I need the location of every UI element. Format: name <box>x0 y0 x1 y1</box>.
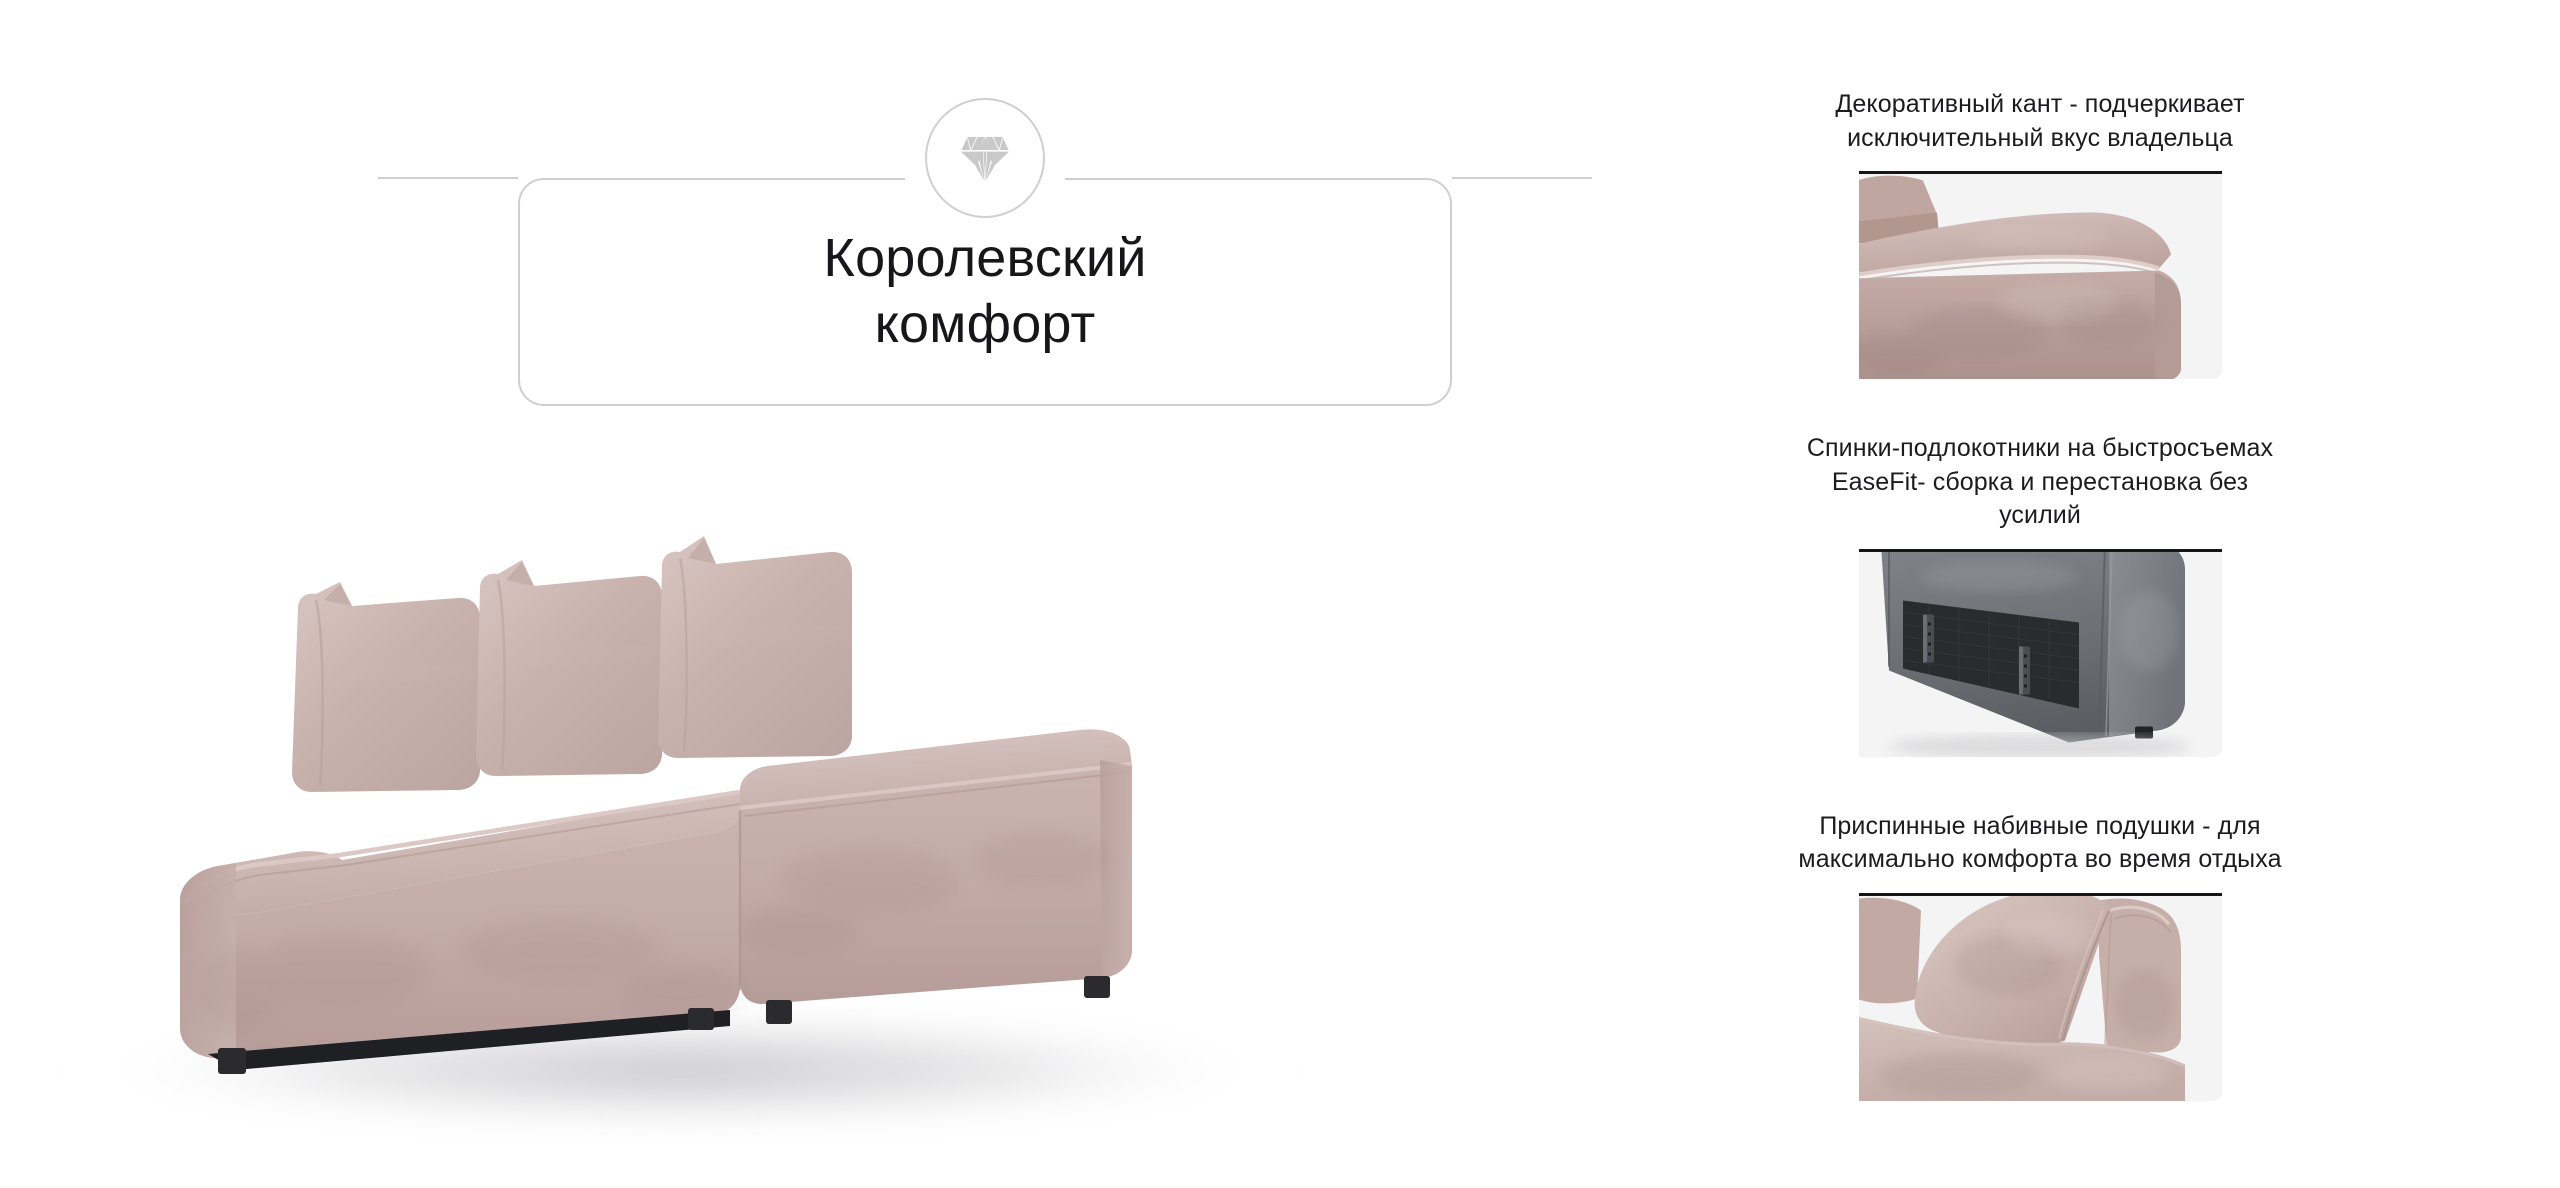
feature-thumbnail-piping[interactable] <box>1859 171 2222 379</box>
divider-line-left <box>378 177 518 179</box>
sofa-foot <box>1084 976 1110 998</box>
sofa-module-left <box>180 792 740 1074</box>
feature-item-cushions: Приспинные набивные подушки - для максим… <box>1790 810 2290 1101</box>
back-cushion-right <box>658 536 852 758</box>
feature-thumbnail-cushions[interactable] <box>1859 893 2222 1101</box>
feature-item-easefit: Спинки-подлокотники на быстросъемах Ease… <box>1790 432 2290 757</box>
feature-item-piping: Декоративный кант - подчеркивает исключи… <box>1790 88 2290 379</box>
back-cushion-middle <box>476 560 662 776</box>
divider-line-right <box>1452 177 1592 179</box>
page-title: Королевский комфорт <box>518 226 1452 358</box>
feature-list: Декоративный кант - подчеркивает исключи… <box>1790 88 2290 1101</box>
sofa-foot <box>766 1000 792 1024</box>
feature-caption: Приспинные набивные подушки - для максим… <box>1790 810 2290 877</box>
diamond-icon <box>925 98 1045 218</box>
quick-release-bracket <box>1923 614 1934 662</box>
feature-caption: Декоративный кант - подчеркивает исключи… <box>1790 88 2290 155</box>
back-cushion-left <box>292 582 480 792</box>
feature-caption: Спинки-подлокотники на быстросъемах Ease… <box>1790 432 2290 533</box>
sofa-foot <box>218 1048 246 1074</box>
feature-thumbnail-easefit[interactable] <box>1859 549 2222 757</box>
sofa-foot <box>688 1008 714 1030</box>
quick-release-bracket <box>2019 646 2030 694</box>
product-hero-image <box>40 430 1800 1150</box>
sofa-module-right <box>740 729 1132 1024</box>
header-badge: Королевский комфорт <box>518 178 1452 406</box>
